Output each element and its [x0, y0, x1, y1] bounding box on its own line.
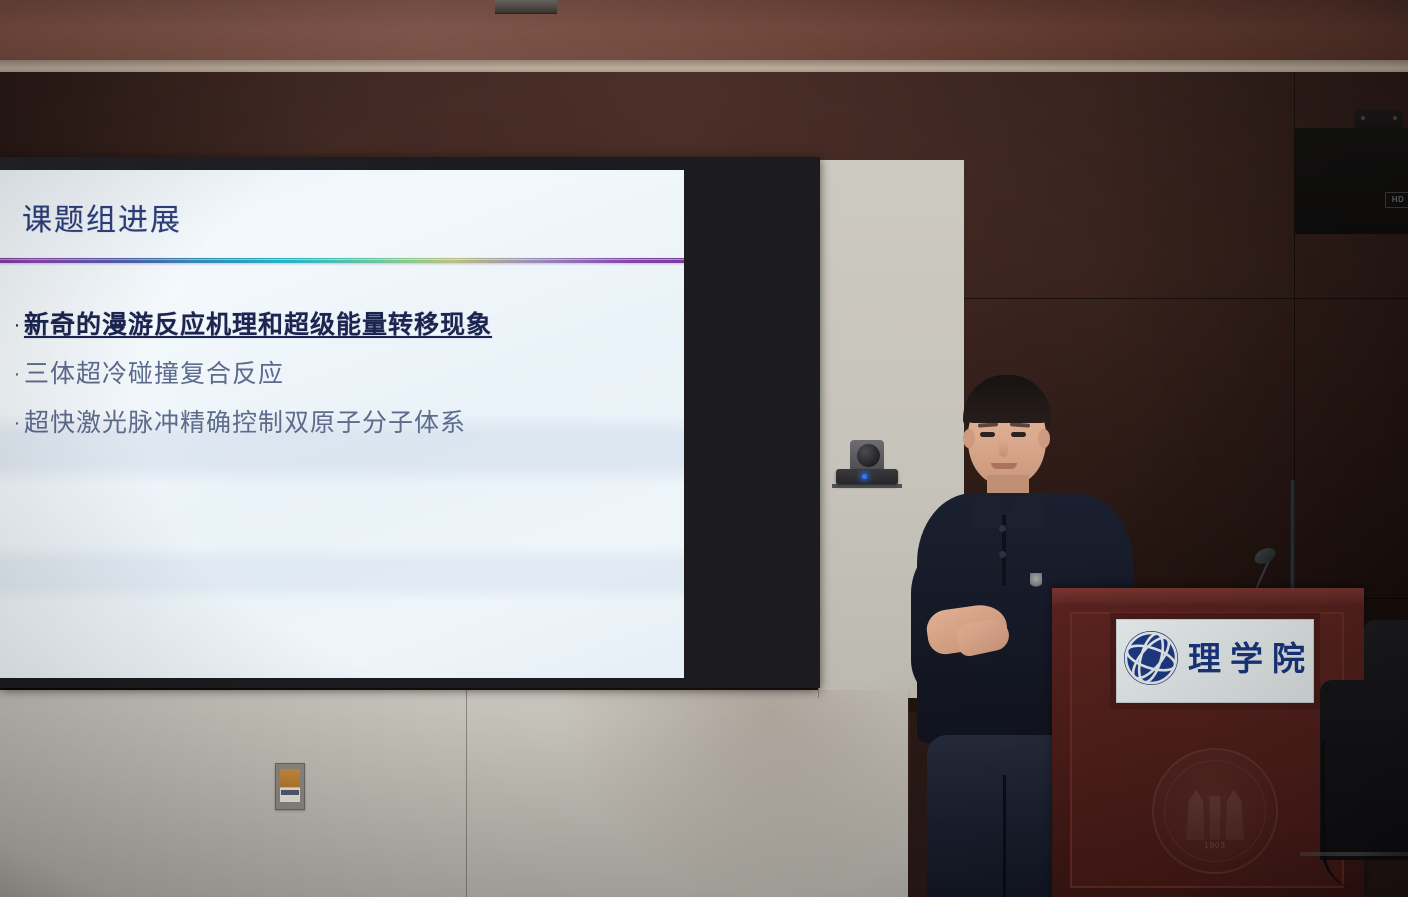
lecture-hall-photo: HD 课题组进展 · 新奇的漫游反应机理和超级能量转移现象 · 三体超冷碰撞复合… [0, 0, 1408, 897]
camera-shelf [832, 484, 902, 488]
presenter-ear [1038, 429, 1050, 448]
ceiling-speaker-icon [1295, 128, 1408, 234]
slide-title: 课题组进展 [22, 195, 182, 239]
bullet-text: 三体超冷碰撞复合反应 [24, 359, 284, 390]
podium-stand-pole [1290, 480, 1295, 592]
list-item: · 新奇的漫游反应机理和超级能量转移现象 [10, 310, 674, 341]
cable [1322, 740, 1385, 890]
wall-outlet-panel-icon[interactable] [275, 763, 305, 810]
wood-wall-panel [964, 72, 1295, 299]
bullet-text: 新奇的漫游反应机理和超级能量转移现象 [24, 310, 492, 341]
presenter-eye [1011, 432, 1026, 437]
podium-sign-text: 理学院 [1188, 632, 1314, 680]
seal-year: 1903 [1154, 841, 1276, 850]
floor-rail [1300, 852, 1408, 856]
hd-label: HD [1385, 192, 1408, 208]
plaster-wall-lower [0, 690, 908, 897]
projected-slide: 课题组进展 · 新奇的漫游反应机理和超级能量转移现象 · 三体超冷碰撞复合反应 … [0, 170, 684, 678]
camera-led-indicator [862, 474, 867, 479]
podium-top-ledge [1052, 588, 1364, 604]
presenter-mouth [991, 463, 1017, 469]
presenter-leg-seam [1003, 775, 1006, 897]
slide-divider-rule [0, 258, 684, 263]
podium-nameplate: 理学院 [1110, 613, 1320, 709]
presenter-nose [999, 440, 1008, 457]
presenter-shirt-button [999, 551, 1006, 558]
wood-wall-panel [1294, 298, 1408, 599]
camera-base [836, 469, 898, 485]
camera-lens-icon [857, 444, 880, 467]
bullet-marker-icon: · [10, 310, 24, 340]
ceiling-vent-icon [495, 0, 557, 14]
bullet-marker-icon: · [10, 359, 24, 389]
presenter-shirt-button [999, 525, 1006, 532]
bullet-text: 超快激光脉冲精确控制双原子分子体系 [24, 408, 466, 439]
wall-seam [466, 690, 467, 897]
globe-atom-icon [1124, 631, 1178, 685]
video-conference-camera-icon [836, 440, 898, 488]
list-item: · 三体超冷碰撞复合反应 [10, 359, 674, 390]
presenter-shirt-logo-icon [1030, 573, 1042, 589]
presenter-ear [963, 429, 975, 448]
bullet-marker-icon: · [10, 408, 24, 438]
university-seal-emblem: 1903 [1152, 748, 1278, 874]
list-item: · 超快激光脉冲精确控制双原子分子体系 [10, 408, 674, 439]
presenter-eye [980, 432, 995, 437]
slide-bullet-list: · 新奇的漫游反应机理和超级能量转移现象 · 三体超冷碰撞复合反应 · 超快激光… [10, 310, 674, 457]
